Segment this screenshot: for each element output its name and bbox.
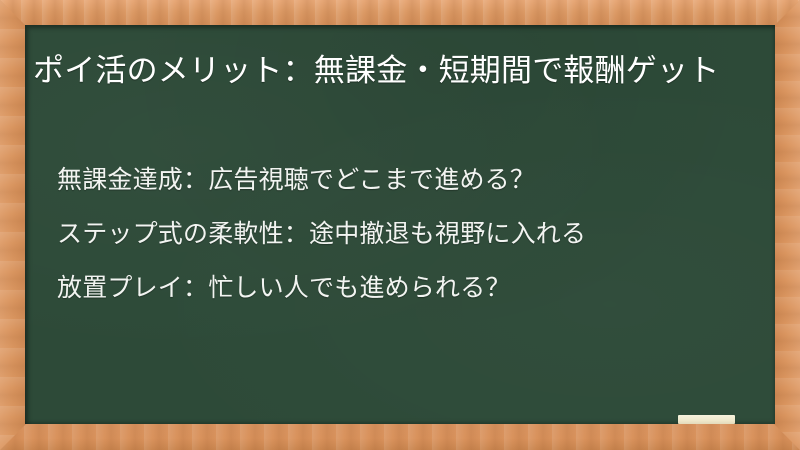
bullet-item-3: 放置プレイ：忙しい人でも進められる？ [57, 261, 747, 315]
frame-plank-bottom [0, 424, 800, 450]
frame-plank-left [0, 0, 26, 450]
bullet-list: 無課金達成：広告視聴でどこまで進める？ ステップ式の柔軟性：途中撤退も視野に入れ… [57, 153, 747, 315]
frame-plank-right [774, 0, 800, 450]
bullet-item-1: 無課金達成：広告視聴でどこまで進める？ [57, 153, 747, 207]
slide-content: ポイ活のメリット：無課金・短期間で報酬ゲット 無課金達成：広告視聴でどこまで進め… [25, 25, 775, 424]
slide-canvas: ポイ活のメリット：無課金・短期間で報酬ゲット 無課金達成：広告視聴でどこまで進め… [0, 0, 800, 450]
bullet-item-2: ステップ式の柔軟性：途中撤退も視野に入れる [57, 207, 747, 261]
chalk-stick-icon [678, 415, 735, 424]
chalkboard-surface: ポイ活のメリット：無課金・短期間で報酬ゲット 無課金達成：広告視聴でどこまで進め… [25, 25, 775, 424]
slide-title: ポイ活のメリット：無課金・短期間で報酬ゲット [33, 49, 733, 93]
frame-plank-top [0, 0, 800, 26]
